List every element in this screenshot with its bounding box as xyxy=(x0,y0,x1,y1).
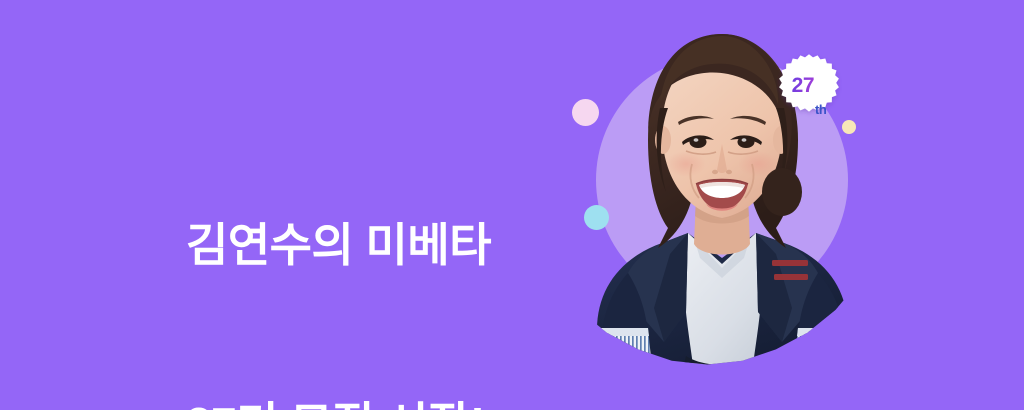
decorative-dot-cream xyxy=(842,120,856,134)
decorative-dot-cyan xyxy=(584,205,609,230)
badge-label: 27th xyxy=(776,52,842,118)
headline-line-2: 27기 모집 시작! xyxy=(186,395,586,410)
badge-ordinal: th xyxy=(815,103,826,116)
instructor-portrait xyxy=(536,12,908,389)
badge-number: 27 xyxy=(792,75,814,96)
page-title: 김연수의 미베타 27기 모집 시작! xyxy=(186,96,586,410)
striped-cuff-left xyxy=(600,328,652,370)
banner-copy: 김연수의 미베타 27기 모집 시작! 딱 5주만 실천하면, 무조건 바뀝니다 xyxy=(186,96,586,410)
headline-line-1: 김연수의 미베타 xyxy=(186,216,586,276)
striped-cuff-right xyxy=(794,328,846,370)
instructor-portrait-image xyxy=(536,12,908,389)
edition-badge: 27th xyxy=(776,52,842,118)
promo-banner[interactable]: 김연수의 미베타 27기 모집 시작! 딱 5주만 실천하면, 무조건 바뀝니다 xyxy=(0,0,1024,410)
